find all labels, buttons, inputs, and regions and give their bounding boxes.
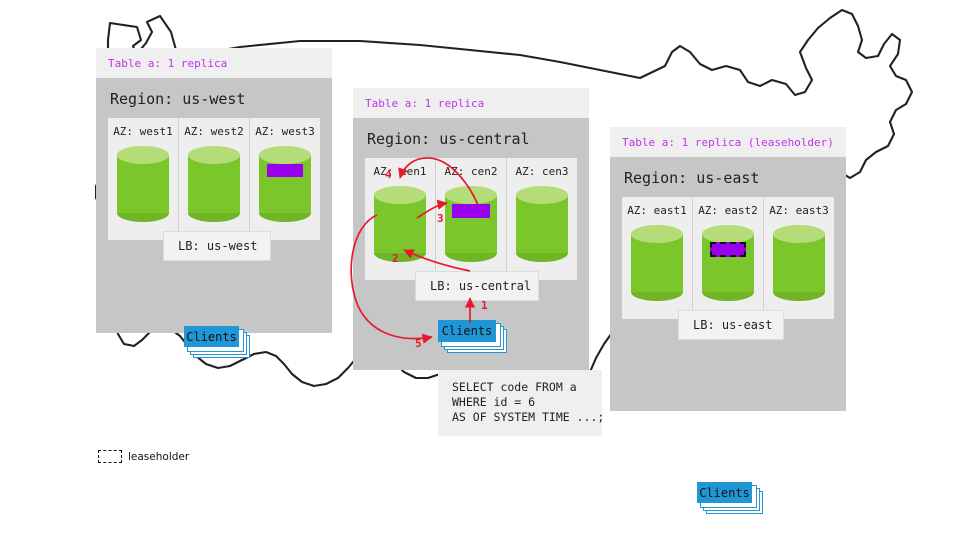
clients-us-east[interactable]: Clients bbox=[697, 482, 761, 512]
node-cylinder-west1[interactable] bbox=[117, 146, 169, 222]
node-cylinder-east3[interactable] bbox=[773, 225, 825, 301]
clients-label-us-central[interactable]: Clients bbox=[438, 320, 496, 342]
arrow-number-5: 5 bbox=[415, 337, 422, 350]
cylinder-top bbox=[374, 186, 426, 204]
az-label-cen1: AZ: cen1 bbox=[365, 165, 435, 178]
cylinder-top bbox=[631, 225, 683, 243]
cylinder-top bbox=[773, 225, 825, 243]
az-label-cen2: AZ: cen2 bbox=[436, 165, 506, 178]
az-cen2[interactable]: AZ: cen2 bbox=[436, 158, 507, 280]
node-cylinder-cen1[interactable] bbox=[374, 186, 426, 262]
az-cen1[interactable]: AZ: cen1 bbox=[365, 158, 436, 280]
az-west1[interactable]: AZ: west1 bbox=[108, 118, 179, 240]
az-row-us-west: AZ: west1 AZ: west2 AZ: west3 bbox=[108, 118, 320, 240]
az-west2[interactable]: AZ: west2 bbox=[179, 118, 250, 240]
clients-us-central[interactable]: Clients bbox=[438, 320, 506, 352]
region-title-us-central: Region: us-central bbox=[353, 118, 589, 158]
az-label-west2: AZ: west2 bbox=[179, 125, 249, 138]
az-east2[interactable]: AZ: east2 bbox=[693, 197, 764, 319]
cylinder-top bbox=[516, 186, 568, 204]
replica-range-west3[interactable] bbox=[267, 164, 303, 177]
node-cylinder-east2[interactable] bbox=[702, 225, 754, 301]
sql-query-box: SELECT code FROM a WHERE id = 6 AS OF SY… bbox=[438, 370, 602, 436]
cylinder-top bbox=[188, 146, 240, 164]
region-panel-us-west: Table a: 1 replica Region: us-west AZ: w… bbox=[96, 48, 332, 333]
az-label-cen3: AZ: cen3 bbox=[507, 165, 577, 178]
az-label-east3: AZ: east3 bbox=[764, 204, 834, 217]
az-label-west1: AZ: west1 bbox=[108, 125, 178, 138]
az-east3[interactable]: AZ: east3 bbox=[764, 197, 834, 319]
az-east1[interactable]: AZ: east1 bbox=[622, 197, 693, 319]
dashed-rect-icon bbox=[98, 450, 122, 463]
node-cylinder-west2[interactable] bbox=[188, 146, 240, 222]
cylinder-top bbox=[445, 186, 497, 204]
node-cylinder-cen3[interactable] bbox=[516, 186, 568, 262]
region-panel-us-central: Table a: 1 replica Region: us-central AZ… bbox=[353, 88, 589, 370]
node-cylinder-cen2[interactable] bbox=[445, 186, 497, 262]
region-header-us-east: Table a: 1 replica (leaseholder) bbox=[610, 127, 846, 157]
az-row-us-east: AZ: east1 AZ: east2 AZ: east3 bbox=[622, 197, 834, 319]
az-label-east1: AZ: east1 bbox=[622, 204, 692, 217]
az-west3[interactable]: AZ: west3 bbox=[250, 118, 320, 240]
clients-us-west[interactable]: Clients bbox=[184, 326, 248, 356]
clients-label-us-west[interactable]: Clients bbox=[184, 326, 239, 347]
cylinder-top bbox=[117, 146, 169, 164]
region-header-us-west: Table a: 1 replica bbox=[96, 48, 332, 78]
node-cylinder-west3[interactable] bbox=[259, 146, 311, 222]
arrow-number-2: 2 bbox=[392, 252, 399, 265]
arrow-number-4: 4 bbox=[385, 168, 392, 181]
clients-label-us-east[interactable]: Clients bbox=[697, 482, 752, 503]
load-balancer-us-west[interactable]: LB: us-west bbox=[163, 231, 271, 261]
load-balancer-us-central[interactable]: LB: us-central bbox=[415, 271, 539, 301]
cylinder-top bbox=[259, 146, 311, 164]
region-title-us-east: Region: us-east bbox=[610, 157, 846, 197]
az-label-west3: AZ: west3 bbox=[250, 125, 320, 138]
cylinder-top bbox=[702, 225, 754, 243]
region-panel-us-east: Table a: 1 replica (leaseholder) Region:… bbox=[610, 127, 846, 411]
region-header-us-central: Table a: 1 replica bbox=[353, 88, 589, 118]
replica-range-cen2[interactable] bbox=[452, 204, 490, 218]
load-balancer-us-east[interactable]: LB: us-east bbox=[678, 310, 784, 340]
legend-label: leaseholder bbox=[128, 451, 189, 463]
az-label-east2: AZ: east2 bbox=[693, 204, 763, 217]
diagram-canvas: Table a: 1 replica Region: us-west AZ: w… bbox=[0, 0, 960, 540]
arrow-number-3: 3 bbox=[437, 212, 444, 225]
node-cylinder-east1[interactable] bbox=[631, 225, 683, 301]
arrow-number-1: 1 bbox=[481, 299, 488, 312]
region-title-us-west: Region: us-west bbox=[96, 78, 332, 118]
az-cen3[interactable]: AZ: cen3 bbox=[507, 158, 577, 280]
legend-leaseholder: leaseholder bbox=[98, 450, 189, 463]
replica-range-east2-leaseholder[interactable] bbox=[710, 242, 746, 257]
